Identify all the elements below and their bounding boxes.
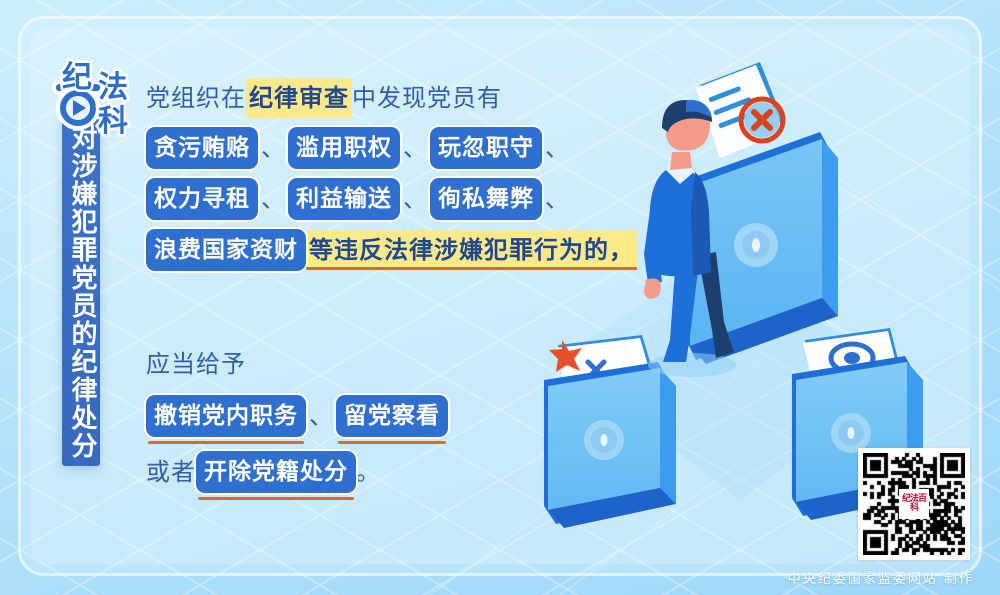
main-text-block-1: 党组织在纪律审查中发现党员有 贪污贿赂、滥用职权、玩忽职守、 权力寻租、利益输送… bbox=[146, 78, 666, 280]
text-pill: 权力寻租 bbox=[146, 178, 258, 220]
qr-code[interactable]: 纪法百科 bbox=[858, 448, 970, 560]
text-pill: 撤销党内职务 bbox=[146, 395, 306, 437]
text-pill-label: 浪费国家资财 bbox=[146, 229, 306, 271]
text-pill-label: 权力寻租 bbox=[146, 178, 258, 220]
text-plain: 或者 bbox=[146, 453, 196, 491]
text-plain: 党组织在 bbox=[146, 79, 246, 117]
text-pill-label: 玩忽职守 bbox=[430, 127, 542, 169]
text-line: 贪污贿赂、滥用职权、玩忽职守、 bbox=[146, 127, 666, 169]
text-line: 权力寻租、利益输送、徇私舞弊、 bbox=[146, 178, 666, 220]
text-line: 或者开除党籍处分。 bbox=[146, 451, 576, 493]
text-separator: 、 bbox=[542, 129, 572, 167]
text-separator: 、 bbox=[258, 180, 288, 218]
text-pill-label: 利益输送 bbox=[288, 178, 400, 220]
credit-text: 中央纪委国家监委网站 制作 bbox=[788, 568, 974, 587]
text-pill: 玩忽职守 bbox=[430, 127, 542, 169]
logo-char-3: 科 bbox=[98, 96, 128, 140]
text-plain: 应当给予 bbox=[146, 345, 246, 383]
text-separator: 、 bbox=[400, 129, 430, 167]
text-pill: 开除党籍处分 bbox=[196, 451, 356, 493]
text-pill-label: 滥用职权 bbox=[288, 127, 400, 169]
text-separator: 、 bbox=[400, 180, 430, 218]
text-line: 党组织在纪律审查中发现党员有 bbox=[146, 78, 666, 118]
main-text-block-2: 应当给予 撤销党内职务、留党察看 或者开除党籍处分。 bbox=[146, 345, 576, 502]
text-separator: 、 bbox=[258, 129, 288, 167]
brand-logo: 纪 法 科 bbox=[54, 52, 146, 130]
text-pill: 徇私舞弊 bbox=[430, 178, 542, 220]
text-pill: 浪费国家资财 bbox=[146, 229, 306, 271]
text-pill: 留党察看 bbox=[336, 395, 448, 437]
text-pill-label: 留党察看 bbox=[336, 395, 448, 437]
text-highlight: 纪律审查 bbox=[246, 78, 352, 118]
qr-center-logo: 纪法百科 bbox=[899, 489, 929, 519]
text-pill: 滥用职权 bbox=[288, 127, 400, 169]
text-pill: 贪污贿赂 bbox=[146, 127, 258, 169]
poster-canvas: 纪 法 科 对涉嫌犯罪党员的纪律处分 党组织在纪律审查中发现党员有 贪污贿赂、滥… bbox=[0, 0, 1000, 595]
text-plain: 。 bbox=[356, 453, 381, 491]
text-pill-label: 开除党籍处分 bbox=[196, 451, 356, 493]
text-line: 撤销党内职务、留党察看 bbox=[146, 395, 576, 437]
vertical-title-text: 对涉嫌犯罪党员的纪律处分 bbox=[62, 124, 100, 460]
text-pill-label: 撤销党内职务 bbox=[146, 395, 306, 437]
text-line: 应当给予 bbox=[146, 345, 576, 383]
text-pill-label: 贪污贿赂 bbox=[146, 127, 258, 169]
text-pill: 利益输送 bbox=[288, 178, 400, 220]
text-highlight: 等违反法律涉嫌犯罪行为的， bbox=[306, 230, 637, 270]
logo-play-triangle bbox=[73, 100, 86, 116]
text-plain: 中发现党员有 bbox=[352, 79, 502, 117]
text-separator: 、 bbox=[306, 397, 336, 435]
logo-char-1: 纪 bbox=[62, 52, 92, 96]
text-pill-label: 徇私舞弊 bbox=[430, 178, 542, 220]
text-line: 浪费国家资财等违反法律涉嫌犯罪行为的， bbox=[146, 229, 666, 271]
text-separator: 、 bbox=[542, 180, 572, 218]
vertical-title-banner: 对涉嫌犯罪党员的纪律处分 bbox=[62, 118, 100, 466]
